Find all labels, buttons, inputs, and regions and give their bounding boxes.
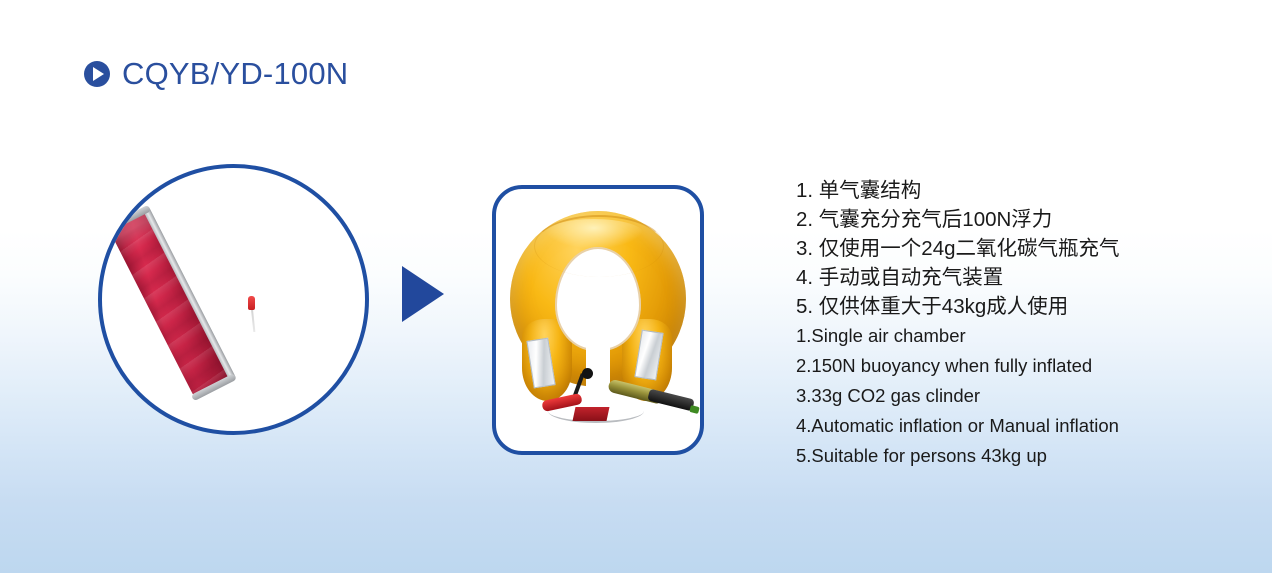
spec-en-item: 3.33g CO2 gas clinder [796,381,1216,411]
specification-list: 1. 单气囊结构 2. 气囊充分充气后100N浮力 3. 仅使用一个24g二氧化… [796,176,1216,471]
spec-cn-item: 5. 仅供体重大于43kg成人使用 [796,292,1216,321]
inflated-lifejacket-image [510,211,686,411]
spec-en-item: 2.150N buoyancy when fully inflated [796,351,1216,381]
packed-fabric [108,208,233,397]
play-circle-icon [84,61,110,87]
inflator-green-indicator [689,405,699,414]
spec-cn-item: 3. 仅使用一个24g二氧化碳气瓶充气 [796,234,1216,263]
vest-highlight [544,219,644,249]
spec-cn-item: 2. 气囊充分充气后100N浮力 [796,205,1216,234]
page-title: CQYB/YD-100N [122,56,348,92]
spec-en-item: 1.Single air chamber [796,321,1216,351]
spec-cn-item: 1. 单气囊结构 [796,176,1216,205]
right-triangle-arrow-icon [402,266,444,322]
red-fabric-tab [573,407,610,421]
spec-en-item: 4.Automatic inflation or Manual inflatio… [796,411,1216,441]
spec-en-item: 5.Suitable for persons 43kg up [796,441,1216,471]
manual-handle-knob [582,368,593,379]
inflated-product-frame [492,185,704,455]
pull-tab-icon [248,296,255,310]
spec-cn-item: 4. 手动或自动充气装置 [796,263,1216,292]
packed-product-frame [98,164,369,435]
slide-title-row: CQYB/YD-100N [84,56,348,92]
packed-lifejacket-image [108,208,233,397]
product-slide: CQYB/YD-100N [0,0,1272,573]
inflator-mechanism [647,389,695,412]
